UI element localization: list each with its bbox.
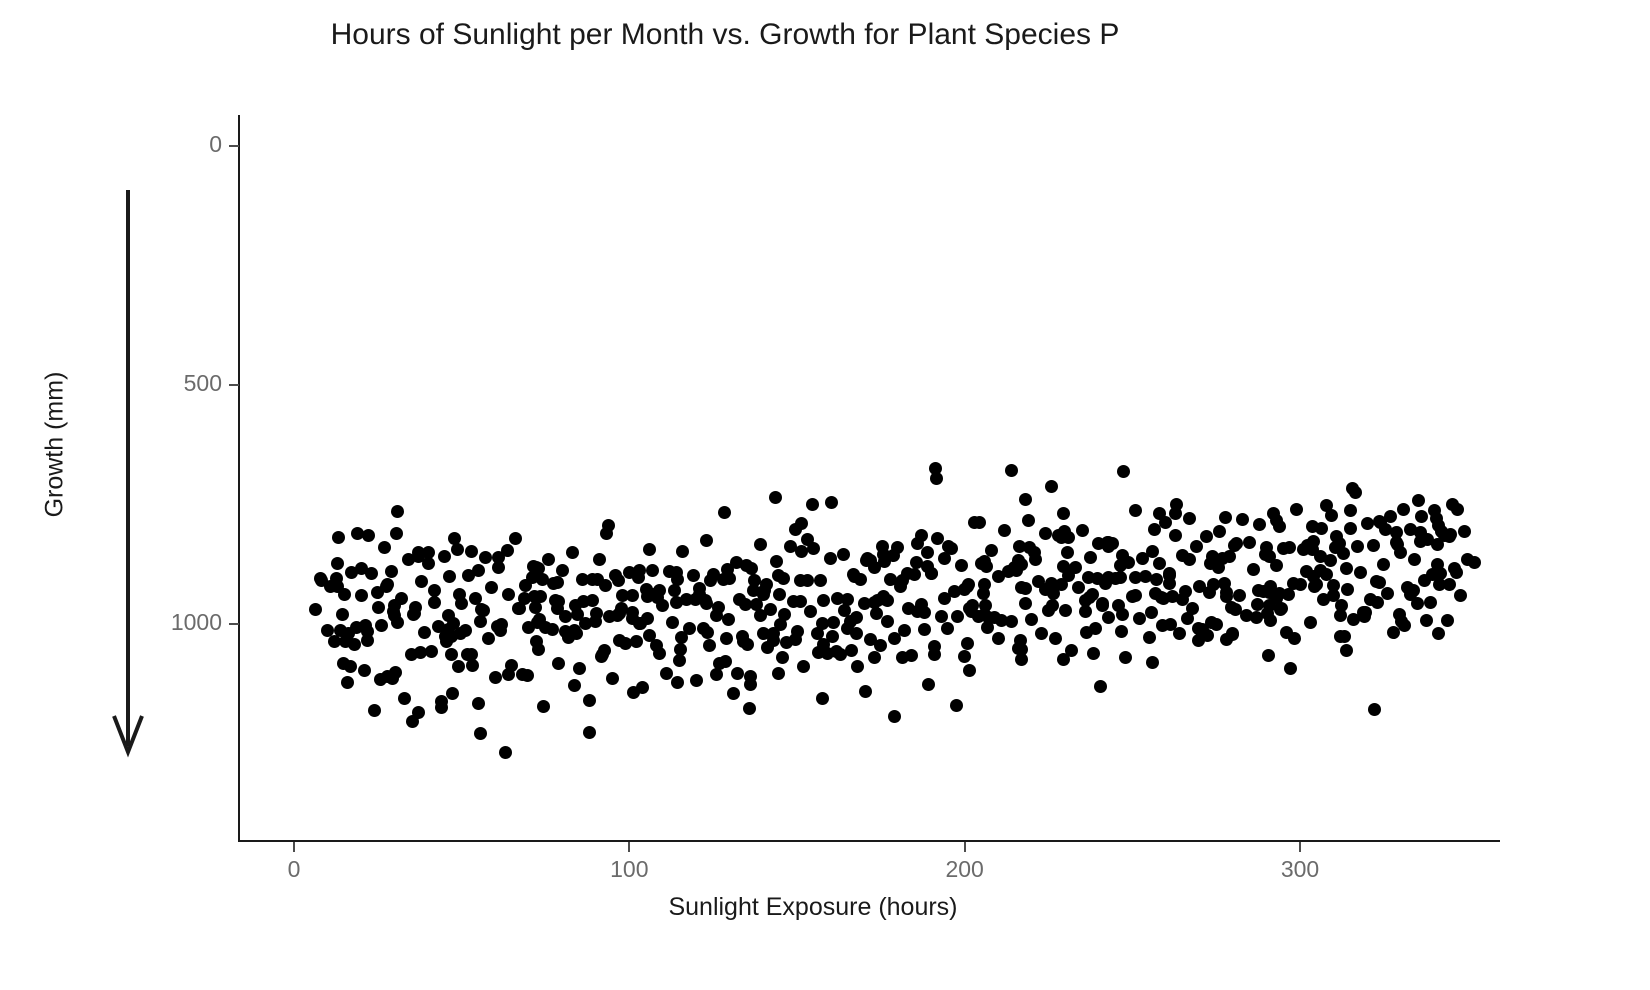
scatter-point <box>1084 551 1097 564</box>
scatter-point <box>958 650 971 663</box>
scatter-point <box>789 633 802 646</box>
scatter-point <box>1049 632 1062 645</box>
scatter-point <box>491 620 504 633</box>
scatter-point <box>1327 579 1340 592</box>
scatter-point <box>1344 504 1357 517</box>
scatter-point <box>1415 510 1428 523</box>
scatter-point <box>776 651 789 664</box>
scatter-point <box>1153 557 1166 570</box>
scatter-point <box>887 549 900 562</box>
x-tick-mark <box>628 842 630 852</box>
scatter-point <box>868 651 881 664</box>
scatter-point <box>1220 586 1233 599</box>
scatter-point <box>606 672 619 685</box>
scatter-point <box>1200 530 1213 543</box>
scatter-point <box>568 679 581 692</box>
scatter-point <box>466 659 479 672</box>
scatter-point <box>1150 573 1163 586</box>
scatter-point <box>1133 612 1146 625</box>
scatter-point <box>1076 524 1089 537</box>
scatter-point <box>874 639 887 652</box>
scatter-point <box>825 496 838 509</box>
scatter-point <box>435 701 448 714</box>
scatter-point <box>1153 507 1166 520</box>
scatter-point <box>1290 503 1303 516</box>
scatter-point <box>770 555 783 568</box>
x-tick-label: 200 <box>925 856 1005 883</box>
scatter-point <box>509 532 522 545</box>
scatter-point <box>472 697 485 710</box>
scatter-point <box>1340 644 1353 657</box>
scatter-point <box>1045 480 1058 493</box>
scatter-point <box>666 616 679 629</box>
scatter-point <box>704 574 717 587</box>
scatter-point <box>703 639 716 652</box>
scatter-point <box>1005 615 1018 628</box>
scatter-point <box>428 584 441 597</box>
scatter-point <box>551 576 564 589</box>
scatter-point <box>1169 529 1182 542</box>
scatter-point <box>1102 611 1115 624</box>
scatter-point <box>710 668 723 681</box>
scatter-point <box>741 638 754 651</box>
scatter-point <box>1315 522 1328 535</box>
x-tick-label: 0 <box>254 856 334 883</box>
scatter-point <box>1119 651 1132 664</box>
scatter-point <box>955 559 968 572</box>
scatter-point <box>1146 545 1159 558</box>
scatter-point <box>368 704 381 717</box>
scatter-point <box>1275 602 1288 615</box>
scatter-point <box>1443 530 1456 543</box>
scatter-point <box>837 548 850 561</box>
scatter-point <box>1212 561 1225 574</box>
scatter-point <box>722 613 735 626</box>
chart-title-text: Hours of Sunlight per Month vs. Growth f… <box>331 18 1120 52</box>
y-tick-label: 500 <box>184 370 222 397</box>
scatter-point <box>1019 582 1032 595</box>
scatter-point <box>1461 553 1474 566</box>
scatter-point <box>985 544 998 557</box>
scatter-point <box>921 546 934 559</box>
scatter-point <box>807 542 820 555</box>
scatter-point <box>1094 680 1107 693</box>
scatter-point <box>359 619 372 632</box>
scatter-point <box>806 498 819 511</box>
scatter-point <box>1359 606 1372 619</box>
scatter-point <box>1117 465 1130 478</box>
scatter-point <box>718 506 731 519</box>
scatter-point <box>1308 580 1321 593</box>
y-tick-label: 1000 <box>171 609 222 636</box>
scatter-point <box>1186 602 1199 615</box>
scatter-point <box>1190 540 1203 553</box>
scatter-point <box>1371 596 1384 609</box>
scatter-point <box>845 644 858 657</box>
scatter-point <box>795 517 808 530</box>
scatter-point <box>479 551 492 564</box>
scatter-point <box>391 505 404 518</box>
scatter-point <box>646 588 659 601</box>
scatter-point <box>1220 633 1233 646</box>
scatter-point <box>915 598 928 611</box>
scatter-point <box>950 699 963 712</box>
scatter-point <box>633 564 646 577</box>
scatter-point <box>1424 596 1437 609</box>
scatter-point <box>443 570 456 583</box>
scatter-point <box>474 615 487 628</box>
scatter-point <box>656 599 669 612</box>
scatter-point <box>1005 464 1018 477</box>
scatter-point <box>1236 513 1249 526</box>
scatter-point <box>1253 518 1266 531</box>
y-tick-mark <box>229 145 239 147</box>
scatter-point <box>485 581 498 594</box>
scatter-point <box>1019 597 1032 610</box>
scatter-point <box>532 562 545 575</box>
scatter-point <box>1010 564 1023 577</box>
scatter-point <box>963 664 976 677</box>
scatter-point <box>1065 644 1078 657</box>
scatter-point <box>1341 583 1354 596</box>
scatter-point <box>671 676 684 689</box>
scatter-point <box>395 592 408 605</box>
scatter-plot-figure: Hours of Sunlight per Month vs. Growth f… <box>0 0 1650 990</box>
scatter-point <box>870 607 883 620</box>
scatter-point <box>546 623 559 636</box>
scatter-point <box>898 624 911 637</box>
scatter-point <box>701 626 714 639</box>
scatter-point <box>1083 591 1096 604</box>
scatter-point <box>824 552 837 565</box>
scatter-point <box>1367 539 1380 552</box>
scatter-point <box>358 664 371 677</box>
scatter-point <box>998 524 1011 537</box>
scatter-point <box>348 638 361 651</box>
scatter-point <box>598 644 611 657</box>
scatter-point <box>1408 553 1421 566</box>
scatter-point <box>908 568 921 581</box>
scatter-point <box>1394 546 1407 559</box>
scatter-point <box>1062 569 1075 582</box>
x-axis-label-text: Sunlight Exposure (hours) <box>668 893 957 922</box>
scatter-point <box>378 541 391 554</box>
scatter-point <box>675 631 688 644</box>
scatter-point <box>583 726 596 739</box>
scatter-point <box>671 573 684 586</box>
scatter-point <box>1219 511 1232 524</box>
scatter-point <box>922 678 935 691</box>
scatter-point <box>1025 613 1038 626</box>
scatter-point <box>930 472 943 485</box>
scatter-point <box>341 676 354 689</box>
scatter-point <box>773 588 786 601</box>
scatter-point <box>687 569 700 582</box>
scatter-point <box>653 647 666 660</box>
scatter-point <box>981 621 994 634</box>
scatter-point <box>1294 578 1307 591</box>
scatter-point <box>386 672 399 685</box>
scatter-point <box>941 622 954 635</box>
scatter-point <box>1183 512 1196 525</box>
scatter-point <box>915 529 928 542</box>
scatter-point <box>1057 507 1070 520</box>
scatter-point <box>951 610 964 623</box>
scatter-point <box>772 667 785 680</box>
scatter-point <box>1129 504 1142 517</box>
scatter-point <box>673 654 686 667</box>
scatter-point <box>415 575 428 588</box>
scatter-point <box>452 660 465 673</box>
scatter-point <box>630 635 643 648</box>
scatter-point <box>1441 614 1454 627</box>
scatter-point <box>1169 507 1182 520</box>
scatter-point <box>1443 578 1456 591</box>
scatter-point <box>1228 539 1241 552</box>
scatter-point <box>542 553 555 566</box>
scatter-point <box>332 531 345 544</box>
x-tick-mark <box>1299 842 1301 852</box>
growth-direction-arrow-icon <box>108 190 148 760</box>
scatter-point <box>1432 627 1445 640</box>
scatter-point <box>454 627 467 640</box>
scatter-point <box>1411 597 1424 610</box>
scatter-point <box>1129 589 1142 602</box>
scatter-point <box>1397 503 1410 516</box>
scatter-point <box>438 550 451 563</box>
scatter-point <box>533 613 546 626</box>
scatter-point <box>1233 589 1246 602</box>
scatter-point <box>1213 525 1226 538</box>
scatter-point <box>643 543 656 556</box>
scatter-point <box>600 527 613 540</box>
scatter-point <box>838 604 851 617</box>
scatter-point <box>888 710 901 723</box>
scatter-point <box>1282 588 1295 601</box>
scatter-point <box>1257 585 1270 598</box>
scatter-point <box>537 700 550 713</box>
scatter-point <box>571 608 584 621</box>
scatter-point <box>1373 576 1386 589</box>
scatter-point <box>391 616 404 629</box>
scatter-point <box>375 619 388 632</box>
scatter-point <box>1114 559 1127 572</box>
x-axis-label: Sunlight Exposure (hours) <box>0 893 1650 922</box>
scatter-point <box>551 602 564 615</box>
scatter-point <box>850 611 863 624</box>
scatter-point <box>961 637 974 650</box>
scatter-point <box>502 668 515 681</box>
scatter-point <box>1338 630 1351 643</box>
scatter-point <box>414 646 427 659</box>
scatter-point <box>814 574 827 587</box>
scatter-point <box>331 557 344 570</box>
x-tick-label: 100 <box>589 856 669 883</box>
scatter-point <box>1458 525 1471 538</box>
scatter-point <box>406 715 419 728</box>
scatter-point <box>1368 703 1381 716</box>
scatter-point <box>482 632 495 645</box>
scatter-point <box>566 546 579 559</box>
scatter-point <box>769 491 782 504</box>
scatter-point <box>1019 493 1032 506</box>
scatter-point <box>1035 627 1048 640</box>
scatter-point <box>1451 503 1464 516</box>
scatter-point <box>801 574 814 587</box>
scatter-point <box>362 529 375 542</box>
scatter-point <box>804 605 817 618</box>
scatter-point <box>612 574 625 587</box>
scatter-point <box>372 601 385 614</box>
y-tick-mark <box>229 623 239 625</box>
scatter-point <box>1022 514 1035 527</box>
scatter-point <box>451 543 464 556</box>
scatter-point <box>1333 537 1346 550</box>
scatter-point <box>1407 584 1420 597</box>
scatter-point <box>442 609 455 622</box>
scatter-point <box>501 544 514 557</box>
scatter-point <box>1261 607 1274 620</box>
scatter-point <box>727 687 740 700</box>
scatter-point <box>336 608 349 621</box>
scatter-point <box>1072 581 1085 594</box>
scatter-point <box>925 567 938 580</box>
scatter-point <box>992 632 1005 645</box>
scatter-point <box>816 692 829 705</box>
scatter-point <box>398 692 411 705</box>
scatter-point <box>328 635 341 648</box>
scatter-point <box>1014 634 1027 647</box>
scatter-point <box>428 596 441 609</box>
scatter-point <box>1420 614 1433 627</box>
scatter-point <box>338 588 351 601</box>
scatter-point <box>1059 604 1072 617</box>
scatter-point <box>963 602 976 615</box>
scatter-point <box>700 534 713 547</box>
scatter-point <box>712 601 725 614</box>
scatter-point <box>641 612 654 625</box>
scatter-point <box>1146 656 1159 669</box>
scatter-point <box>854 573 867 586</box>
scatter-point <box>1173 627 1186 640</box>
scatter-point <box>764 603 777 616</box>
scatter-point <box>1225 601 1238 614</box>
scatter-point <box>385 565 398 578</box>
scatter-point <box>472 564 485 577</box>
x-tick-mark <box>293 842 295 852</box>
scatter-point <box>795 545 808 558</box>
scatter-point <box>1061 546 1074 559</box>
scatter-point <box>1340 562 1353 575</box>
scatter-point <box>465 545 478 558</box>
scatter-point <box>881 615 894 628</box>
scatter-point <box>859 685 872 698</box>
scatter-point <box>910 556 923 569</box>
scatter-point <box>743 702 756 715</box>
scatter-point <box>958 583 971 596</box>
scatter-point <box>1284 662 1297 675</box>
scatter-point <box>1176 593 1189 606</box>
scatter-point <box>660 667 673 680</box>
scatter-point <box>1055 531 1068 544</box>
plot-area <box>240 115 1500 840</box>
scatter-point <box>309 603 322 616</box>
scatter-point <box>573 662 586 675</box>
scatter-point <box>1335 599 1348 612</box>
scatter-point <box>1280 626 1293 639</box>
scatter-point <box>627 686 640 699</box>
scatter-point <box>1361 517 1374 530</box>
scatter-point <box>418 626 431 639</box>
y-tick-label: 0 <box>209 131 222 158</box>
scatter-point <box>1089 622 1102 635</box>
scatter-point <box>380 580 393 593</box>
scatter-point <box>453 588 466 601</box>
scatter-point <box>973 516 986 529</box>
scatter-point <box>731 667 744 680</box>
scatter-point <box>344 660 357 673</box>
scatter-point <box>1087 647 1100 660</box>
scatter-point <box>1096 597 1109 610</box>
scatter-point <box>583 694 596 707</box>
scatter-point <box>699 594 712 607</box>
scatter-point <box>593 553 606 566</box>
scatter-point <box>1270 559 1283 572</box>
scatter-point <box>1373 515 1386 528</box>
scatter-point <box>1129 571 1142 584</box>
scatter-point <box>1143 631 1156 644</box>
scatter-point <box>754 538 767 551</box>
scatter-point <box>446 687 459 700</box>
scatter-point <box>646 564 659 577</box>
scatter-point <box>1325 509 1338 522</box>
scatter-point <box>1306 543 1319 556</box>
scatter-point <box>850 627 863 640</box>
scatter-point <box>474 727 487 740</box>
scatter-point <box>1344 522 1357 535</box>
y-tick-mark <box>229 384 239 386</box>
scatter-point <box>577 595 590 608</box>
scatter-point <box>499 746 512 759</box>
scatter-point <box>1351 540 1364 553</box>
scatter-point <box>757 588 770 601</box>
scatter-point <box>745 562 758 575</box>
scatter-point <box>1454 589 1467 602</box>
scatter-point <box>1324 554 1337 567</box>
scatter-point <box>1163 577 1176 590</box>
scatter-point <box>521 669 534 682</box>
x-tick-mark <box>964 842 966 852</box>
scatter-point <box>445 648 458 661</box>
y-axis-label: Growth (mm) <box>41 315 70 575</box>
scatter-point <box>513 602 526 615</box>
scatter-point <box>616 589 629 602</box>
scatter-point <box>1101 536 1114 549</box>
scatter-point <box>896 574 909 587</box>
scatter-point <box>979 599 992 612</box>
scatter-point <box>744 670 757 683</box>
scatter-point <box>390 527 403 540</box>
scatter-point <box>408 607 421 620</box>
scatter-point <box>690 674 703 687</box>
scatter-point <box>1283 541 1296 554</box>
scatter-point <box>1046 599 1059 612</box>
scatter-point <box>502 588 515 601</box>
scatter-point <box>942 540 955 553</box>
x-tick-label: 300 <box>1260 856 1340 883</box>
scatter-point <box>1145 606 1158 619</box>
scatter-point <box>975 557 988 570</box>
